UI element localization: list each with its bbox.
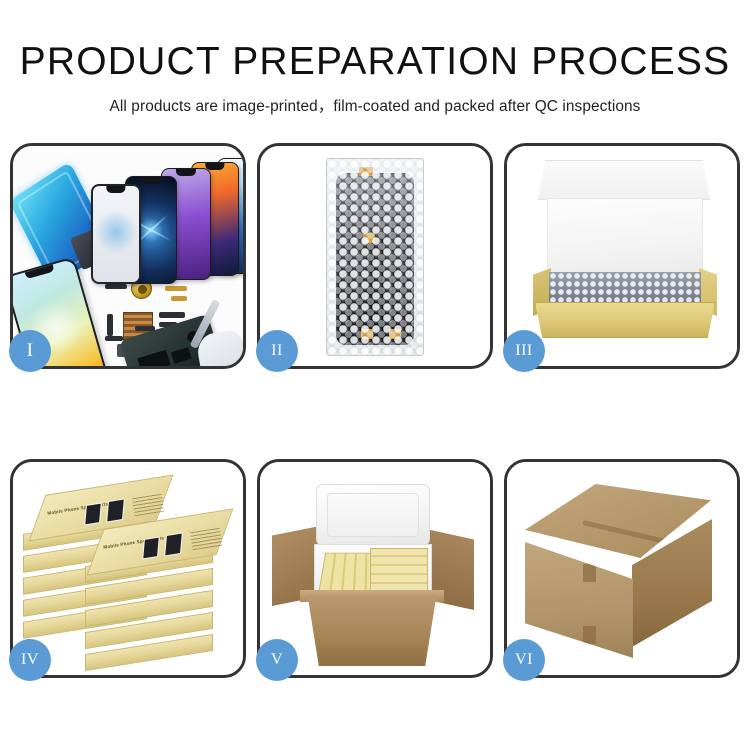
- box-screen-image: [142, 536, 160, 559]
- phone-notch-icon: [106, 186, 125, 193]
- box-front-panel-icon: [535, 302, 715, 338]
- process-step-panel-2[interactable]: II: [257, 143, 493, 369]
- phone-white-front-icon: [91, 184, 141, 284]
- carton-front-face-icon: [525, 542, 633, 658]
- bubble-wrap-bag-icon: [326, 158, 424, 356]
- carton-tape-icon: [583, 564, 596, 582]
- flex-cable-icon: [165, 286, 187, 291]
- step-5-image: [260, 462, 490, 675]
- flex-cable-icon: [171, 296, 187, 301]
- step-badge-5: V: [256, 639, 298, 681]
- step-badge-6: VI: [503, 639, 545, 681]
- step-4-image: Mobile Phone Spare Parts Mobile Phone Sp…: [13, 462, 243, 675]
- bubble-texture: [549, 272, 701, 304]
- part-icon: [105, 284, 127, 289]
- phone-notch-icon: [176, 169, 196, 176]
- page-header: PRODUCT PREPARATION PROCESS All products…: [0, 0, 750, 116]
- process-step-panel-4[interactable]: Mobile Phone Spare Parts Mobile Phone Sp…: [10, 459, 246, 678]
- product-preparation-page: PRODUCT PREPARATION PROCESS All products…: [0, 0, 750, 750]
- page-title: PRODUCT PREPARATION PROCESS: [0, 42, 750, 83]
- bubble-wrap-fill-icon: [549, 272, 701, 304]
- process-step-grid: I II: [10, 143, 740, 678]
- part-icon: [107, 314, 113, 336]
- step-3-image: [507, 146, 737, 366]
- screen-glow-icon: [94, 210, 138, 254]
- box-stack-group: Mobile Phone Spare Parts Mobile Phone Sp…: [21, 480, 235, 666]
- box-screen-image: [106, 498, 125, 522]
- box-screen-image: [164, 532, 183, 556]
- phone-notch-icon: [205, 163, 224, 170]
- phone-notch-icon: [141, 177, 162, 184]
- step-badge-3: III: [503, 330, 545, 372]
- chip-icon: [171, 347, 192, 364]
- step-2-image: [260, 146, 490, 366]
- box-screen-image: [84, 502, 102, 525]
- step-badge-4: IV: [9, 639, 51, 681]
- part-icon: [105, 336, 123, 341]
- step-6-image: [507, 462, 737, 675]
- phone-lineup-group: [91, 158, 241, 293]
- part-icon: [159, 312, 185, 318]
- box-lid-icon: [538, 160, 710, 200]
- page-subtitle: All products are image-printed，film-coat…: [0, 94, 750, 116]
- foam-cooler-lid-icon: [316, 484, 430, 546]
- step-1-image: [13, 146, 243, 366]
- carton-tape-icon: [583, 626, 596, 644]
- process-step-panel-6[interactable]: VI: [504, 459, 740, 678]
- step-badge-1: I: [9, 330, 51, 372]
- packed-yellow-boxes-icon: [370, 548, 428, 592]
- bubble-texture: [327, 159, 423, 355]
- step-badge-2: II: [256, 330, 298, 372]
- foam-sheet-icon: [547, 198, 703, 273]
- carton-body-icon: [302, 596, 442, 666]
- phone-notch-icon: [25, 264, 55, 279]
- process-step-panel-3[interactable]: III: [504, 143, 740, 369]
- process-step-panel-5[interactable]: V: [257, 459, 493, 678]
- process-step-panel-1[interactable]: I: [10, 143, 246, 369]
- chip-icon: [137, 350, 170, 366]
